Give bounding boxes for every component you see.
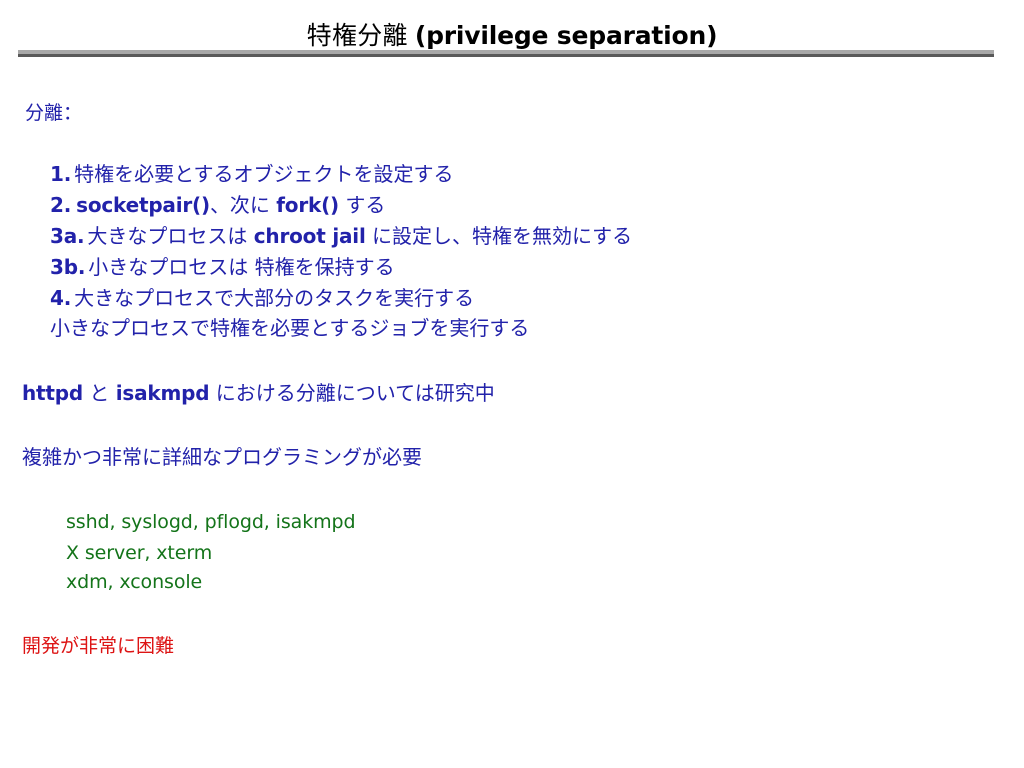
- slide-body: 分離： 1.特権を必要とするオブジェクトを設定する 2.socketpair()…: [0, 0, 1024, 768]
- conclusion-warning: 開発が非常に困難: [22, 637, 174, 656]
- list-item-continuation: 小きなプロセスで特権を必要とするジョブを実行する: [50, 318, 529, 338]
- code-httpd: httpd: [22, 381, 83, 405]
- step-text: 大きなプロセスで大部分のタスクを実行する: [74, 286, 474, 310]
- list-item: 1.特権を必要とするオブジェクトを設定する: [50, 164, 454, 184]
- step-text-mid: 、次に: [210, 193, 276, 217]
- paragraph-text-mid: と: [83, 381, 116, 405]
- paragraph-httpd-isakmpd: httpd と isakmpd における分離については研究中: [22, 383, 495, 403]
- step-text: 小きなプロセスは 特権を保持する: [88, 255, 394, 279]
- step-code-chroot-jail: chroot jail: [254, 224, 366, 248]
- code-isakmpd: isakmpd: [116, 381, 210, 405]
- section-heading-separation: 分離：: [25, 104, 82, 123]
- step-code-fork: fork(): [276, 193, 339, 217]
- step-text: 特権を必要とするオブジェクトを設定する: [74, 162, 453, 186]
- step-marker: 1.: [50, 162, 71, 186]
- step-marker: 3a.: [50, 224, 84, 248]
- step-text-head: 大きなプロセスは: [87, 224, 253, 248]
- list-item: 4.大きなプロセスで大部分のタスクを実行する: [50, 288, 474, 308]
- list-item: 3b.小きなプロセスは 特権を保持する: [50, 257, 395, 277]
- paragraph-text-tail: における分離については研究中: [209, 381, 494, 405]
- paragraph-complexity: 複雑かつ非常に詳細なプログラミングが必要: [22, 447, 422, 467]
- step-text-tail: する: [339, 193, 385, 217]
- list-item: sshd, syslogd, pflogd, isakmpd: [66, 513, 355, 532]
- list-item: 2.socketpair()、次に fork() する: [50, 195, 385, 215]
- step-marker: 4.: [50, 286, 71, 310]
- step-code-socketpair: socketpair(): [76, 193, 210, 217]
- list-item: 3a.大きなプロセスは chroot jail に設定し、特権を無効にする: [50, 226, 632, 246]
- step-marker: 3b.: [50, 255, 85, 279]
- list-item: X server, xterm: [66, 544, 212, 563]
- list-item: xdm, xconsole: [66, 573, 202, 592]
- step-text-tail: に設定し、特権を無効にする: [366, 224, 633, 248]
- step-marker: 2.: [50, 193, 71, 217]
